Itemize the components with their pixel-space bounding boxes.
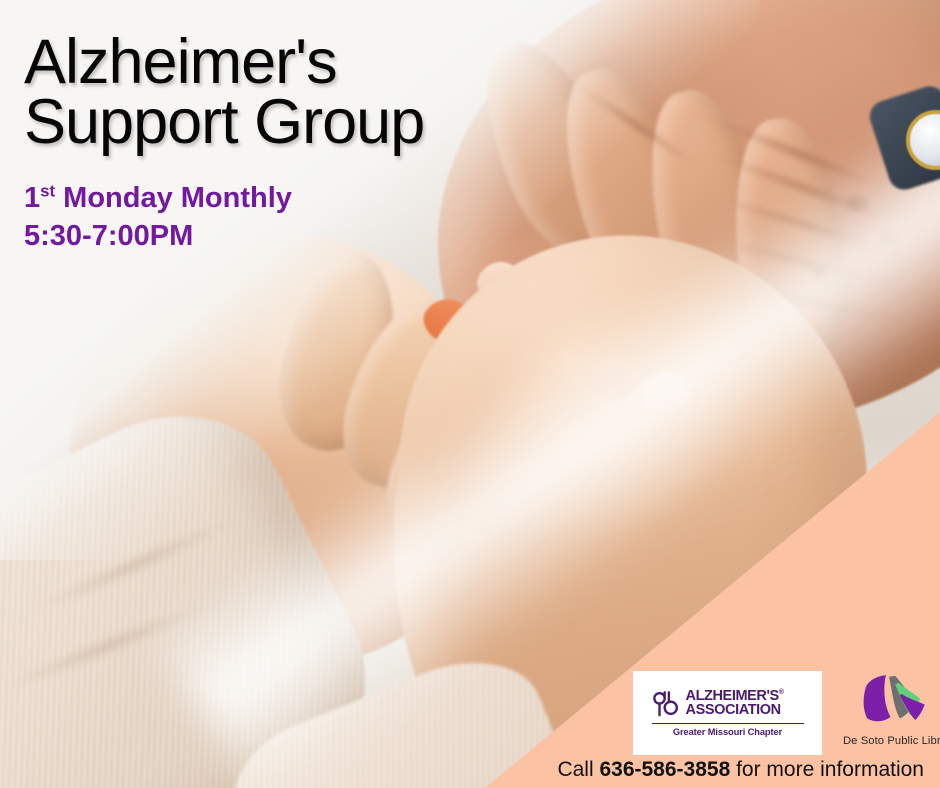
aa-line2: ASSOCIATION bbox=[686, 704, 784, 717]
call-prefix: Call bbox=[557, 758, 599, 781]
page-title: Alzheimer's Support Group bbox=[24, 32, 424, 153]
flyer-canvas: Alzheimer's Support Group 1st Monday Mon… bbox=[0, 0, 940, 788]
phone-number: 636-586-3858 bbox=[599, 758, 730, 781]
aa-chapter-label: Greater Missouri Chapter bbox=[652, 727, 804, 737]
library-name-label: De Soto Public Library bbox=[843, 735, 935, 747]
open-book-fan-mark bbox=[850, 672, 928, 734]
de-soto-public-library-logo: De Soto Public Library bbox=[843, 672, 935, 754]
alzheimers-association-mark bbox=[652, 689, 682, 719]
call-suffix: for more information bbox=[730, 758, 924, 781]
meeting-time: 5:30-7:00PM bbox=[24, 220, 193, 253]
alzheimers-association-logo: ALZHEIMER'S® ASSOCIATION Greater Missour… bbox=[633, 671, 822, 755]
meeting-schedule: 1st Monday Monthly bbox=[24, 178, 292, 218]
logo-divider bbox=[652, 723, 804, 724]
contact-line: Call 636-586-3858 for more information bbox=[0, 758, 924, 782]
meeting-ordinal-number: 1 bbox=[24, 182, 40, 214]
registered-mark: ® bbox=[779, 689, 784, 696]
meeting-day-label: Monday Monthly bbox=[63, 182, 292, 214]
meeting-ordinal-suffix: st bbox=[40, 181, 55, 200]
